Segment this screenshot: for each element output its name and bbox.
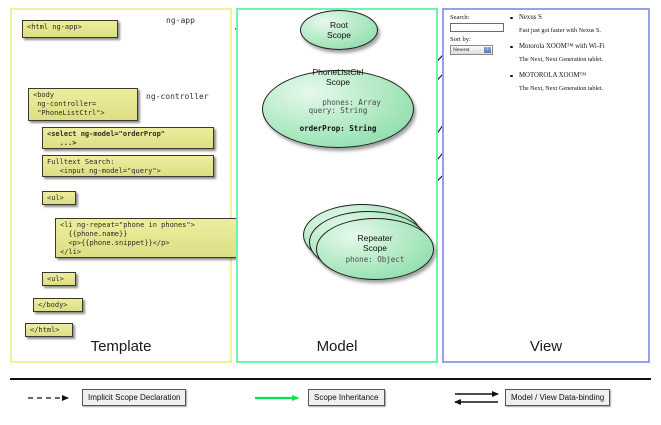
bullet-icon xyxy=(510,17,513,20)
scope-prop-plain: phones: Array query: String xyxy=(309,98,381,116)
panel-view-label: View xyxy=(444,338,648,355)
phone-snippet: Fast just got faster with Nexus S. xyxy=(510,27,644,35)
sort-select-value: Newest xyxy=(453,46,470,54)
edge-label-ng-app: ng-app xyxy=(166,16,195,25)
list-item[interactable]: Motorola XOOM™ with Wi-Fi The Next, Next… xyxy=(510,43,644,64)
scope-repeater-props: phone: Object xyxy=(346,256,405,265)
legend-inheritance-label: Scope Inheritance xyxy=(308,389,385,406)
scope-repeater-title: Repeater Scope xyxy=(358,233,393,253)
phone-snippet: The Next, Next Generation tablet. xyxy=(510,85,644,93)
scope-phonelistctrl: PhoneListCtrl Scope phones: Array query:… xyxy=(262,70,414,148)
phone-name: MOTOROLA XOOM™ xyxy=(510,72,644,80)
scope-root-title: Root Scope xyxy=(327,20,351,40)
scope-prop-orderprop: orderProp: String xyxy=(295,125,381,134)
code-select-tag: <select ng-model="orderProp" ...> xyxy=(42,127,214,149)
panel-model: Model xyxy=(236,8,438,363)
diagram-canvas: Template <html ng-app> <body ng-controll… xyxy=(0,0,661,425)
scope-root: Root Scope xyxy=(300,10,378,50)
bullet-icon xyxy=(510,75,513,78)
search-input[interactable] xyxy=(450,23,504,32)
edge-label-ng-controller: ng-controller xyxy=(146,92,209,101)
legend-implicit-label: Implicit Scope Declaration xyxy=(82,389,186,406)
code-ul-close: <ul> xyxy=(42,272,76,286)
phone-list: Nexus S Fast just got faster with Nexus … xyxy=(510,14,644,101)
bullet-icon xyxy=(510,46,513,49)
code-html-open: <html ng-app> xyxy=(22,20,118,38)
chevron-down-icon: ↕ xyxy=(484,47,491,53)
sort-label: Sort by: xyxy=(450,36,471,43)
legend: Implicit Scope Declaration Scope Inherit… xyxy=(10,378,651,418)
panel-template-label: Template xyxy=(12,338,230,355)
code-ul-open: <ul> xyxy=(42,191,76,205)
code-html-close: </html> xyxy=(25,323,73,337)
phone-snippet: The Next, Next Generation tablet. xyxy=(510,56,644,64)
code-body-open: <body ng-controller= "PhoneListCtrl"> xyxy=(28,88,138,121)
code-search-input: Fulltext Search: <input ng-model="query"… xyxy=(42,155,214,177)
view-browser-content: Search: Sort by: Newest ↕ Nexus S Fast j… xyxy=(448,14,644,126)
sort-select[interactable]: Newest ↕ xyxy=(450,45,493,55)
code-li-repeat: <li ng-repeat="phone in phones"> {{phone… xyxy=(55,218,243,258)
legend-databinding-label: Model / View Data-binding xyxy=(505,389,610,406)
panel-model-label: Model xyxy=(238,338,436,355)
list-item[interactable]: Nexus S Fast just got faster with Nexus … xyxy=(510,14,644,35)
list-item[interactable]: MOTOROLA XOOM™ The Next, Next Generation… xyxy=(510,72,644,93)
search-label: Search: xyxy=(450,14,470,21)
scope-phonelistctrl-title: PhoneListCtrl Scope xyxy=(312,67,363,87)
phone-name: Motorola XOOM™ with Wi-Fi xyxy=(510,43,644,51)
legend-divider xyxy=(10,378,651,380)
scope-phonelistctrl-props: phones: Array query: String orderProp: S… xyxy=(295,90,381,152)
phone-name: Nexus S xyxy=(510,14,644,22)
scope-repeater: Repeater Scope phone: Object xyxy=(316,218,434,280)
code-body-close: </body> xyxy=(33,298,83,312)
